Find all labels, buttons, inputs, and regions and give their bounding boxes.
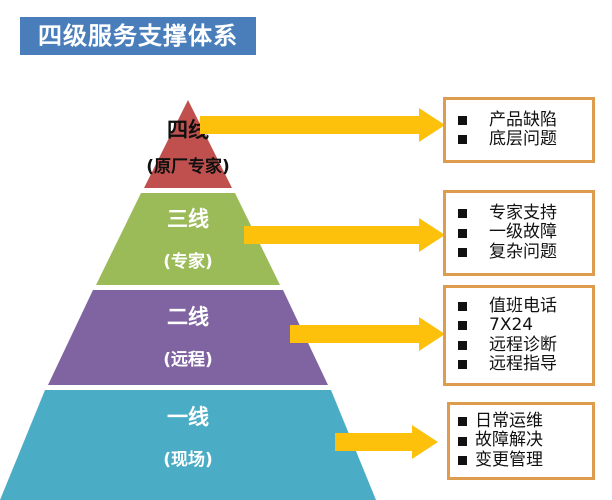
arrow-to-box-4 xyxy=(335,425,438,463)
detail-item: 日常运维 xyxy=(450,412,592,431)
black-square-bullet-icon xyxy=(458,321,467,330)
black-square-bullet-icon xyxy=(458,341,467,350)
pyramid-tier-2-shape xyxy=(48,290,328,385)
detail-item-label: 复杂问题 xyxy=(489,243,557,262)
detail-item: 专家支持 xyxy=(446,204,592,223)
arrow-to-box-1 xyxy=(200,108,445,146)
detail-item-label: 值班电话 xyxy=(489,297,557,316)
detail-item-label: 专家支持 xyxy=(489,204,557,223)
detail-item: 7X24 xyxy=(446,316,592,335)
detail-item-label: 日常运维 xyxy=(475,412,543,431)
black-square-bullet-icon xyxy=(458,360,467,369)
detail-item: 远程诊断 xyxy=(446,336,592,355)
detail-item-label: 产品缺陷 xyxy=(489,111,557,130)
black-square-bullet-icon xyxy=(458,116,467,125)
detail-box-tier-3: 专家支持 一级故障 复杂问题 xyxy=(443,190,595,276)
black-square-bullet-icon xyxy=(458,456,467,465)
detail-item-label: 一级故障 xyxy=(489,223,557,242)
detail-item-label: 底层问题 xyxy=(489,130,557,149)
arrow-to-box-3 xyxy=(290,317,445,355)
pyramid-tier-1-shape xyxy=(0,390,376,500)
detail-item: 远程指导 xyxy=(446,355,592,374)
black-square-bullet-icon xyxy=(458,209,467,218)
detail-item: 一级故障 xyxy=(446,223,592,242)
detail-item-label: 故障解决 xyxy=(475,431,543,450)
detail-item-label: 远程指导 xyxy=(489,355,557,374)
detail-item: 底层问题 xyxy=(446,130,592,149)
black-square-bullet-icon xyxy=(458,135,467,144)
detail-item-label: 变更管理 xyxy=(475,451,543,470)
detail-box-tier-2: 值班电话 7X24 远程诊断 远程指导 xyxy=(443,285,595,386)
detail-item: 复杂问题 xyxy=(446,243,592,262)
detail-item-label: 远程诊断 xyxy=(489,336,557,355)
black-square-bullet-icon xyxy=(458,302,467,311)
detail-box-tier-4: 产品缺陷 底层问题 xyxy=(443,97,595,163)
black-square-bullet-icon xyxy=(458,248,467,257)
detail-item: 值班电话 xyxy=(446,297,592,316)
detail-box-tier-1: 日常运维 故障解决 变更管理 xyxy=(447,402,595,480)
black-square-bullet-icon xyxy=(458,229,467,238)
black-square-bullet-icon xyxy=(458,437,467,446)
page-title-banner: 四级服务支撑体系 xyxy=(20,17,256,55)
page-title: 四级服务支撑体系 xyxy=(38,24,238,48)
detail-item: 产品缺陷 xyxy=(446,111,592,130)
detail-item-label: 7X24 xyxy=(489,316,533,335)
black-square-bullet-icon xyxy=(458,417,467,426)
detail-item: 故障解决 xyxy=(450,431,592,450)
arrow-to-box-2 xyxy=(244,218,445,256)
detail-item: 变更管理 xyxy=(450,451,592,470)
